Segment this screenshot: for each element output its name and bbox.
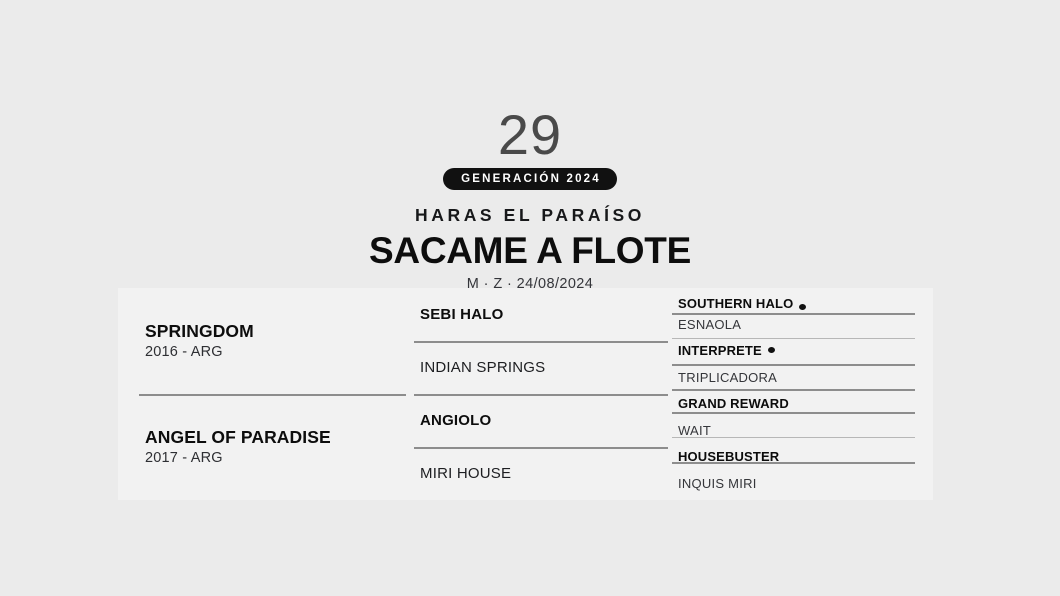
pedigree-column-generation-3: SOUTHERN HALO ESNAOLA INTERPRETE TRIPLIC…: [668, 288, 933, 500]
pedigree-cell-g3-7: HOUSEBUSTER: [668, 444, 933, 471]
dam-detail: 2017 - ARG: [145, 449, 406, 467]
g2-name-2: INDIAN SPRINGS: [420, 359, 545, 377]
g3-name-5: GRAND REWARD: [678, 396, 789, 411]
divider-g3-7: [672, 462, 915, 464]
generation-badge: GENERACIÓN 2024: [443, 168, 617, 190]
pedigree-table: SPRINGDOM 2016 - ARG ANGEL OF PARADISE 2…: [118, 288, 933, 500]
pedigree-cell-g3-3: INTERPRETE: [668, 338, 933, 365]
generation-badge-row: GENERACIÓN 2024: [0, 168, 1060, 190]
g3-name-2: ESNAOLA: [678, 317, 741, 332]
pedigree-column-generation-2: SEBI HALO INDIAN SPRINGS ANGIOLO MIRI HO…: [406, 288, 668, 500]
dam-name: ANGEL OF PARADISE: [145, 427, 406, 448]
pedigree-cell-dam: ANGEL OF PARADISE 2017 - ARG: [118, 394, 406, 500]
g2-name-4: MIRI HOUSE: [420, 465, 511, 483]
pedigree-cell-g2-4: MIRI HOUSE: [406, 447, 668, 500]
g3-name-3: INTERPRETE: [678, 343, 762, 358]
pedigree-cell-g3-8: INQUIS MIRI: [668, 470, 933, 497]
generation-number: 29: [0, 104, 1060, 166]
pedigree-cell-g3-4: TRIPLICADORA: [668, 364, 933, 391]
pedigree-cell-g2-3: ANGIOLO: [406, 394, 668, 447]
divider-g3-5: [672, 412, 915, 414]
g3-name-4: TRIPLICADORA: [678, 370, 777, 385]
g3-name-1: SOUTHERN HALO: [678, 296, 793, 311]
sire-detail: 2016 - ARG: [145, 343, 406, 361]
pedigree-card: 29 GENERACIÓN 2024 HARAS EL PARAÍSO SACA…: [0, 0, 1060, 596]
g2-name-3: ANGIOLO: [420, 412, 491, 430]
stakes-marker-icon: [768, 347, 775, 353]
pedigree-cell-g3-6: WAIT: [668, 417, 933, 444]
pedigree-cell-g3-2: ESNAOLA: [668, 311, 933, 338]
pedigree-column-generation-1: SPRINGDOM 2016 - ARG ANGEL OF PARADISE 2…: [118, 288, 406, 500]
sire-name: SPRINGDOM: [145, 321, 406, 342]
divider-g3-6: [672, 437, 915, 438]
breeder-name: HARAS EL PARAÍSO: [0, 204, 1060, 226]
stakes-marker-icon: [799, 304, 806, 310]
g2-name-1: SEBI HALO: [420, 306, 503, 324]
page-title: SACAME A FLOTE: [0, 230, 1060, 272]
g3-name-8: INQUIS MIRI: [678, 476, 757, 491]
pedigree-cell-g2-1: SEBI HALO: [406, 288, 668, 341]
g3-name-6: WAIT: [678, 423, 711, 438]
pedigree-cell-g2-2: INDIAN SPRINGS: [406, 341, 668, 394]
card-header: 29 GENERACIÓN 2024 HARAS EL PARAÍSO SACA…: [0, 104, 1060, 293]
pedigree-cell-g3-1: SOUTHERN HALO: [668, 288, 933, 311]
pedigree-cell-sire: SPRINGDOM 2016 - ARG: [118, 288, 406, 394]
